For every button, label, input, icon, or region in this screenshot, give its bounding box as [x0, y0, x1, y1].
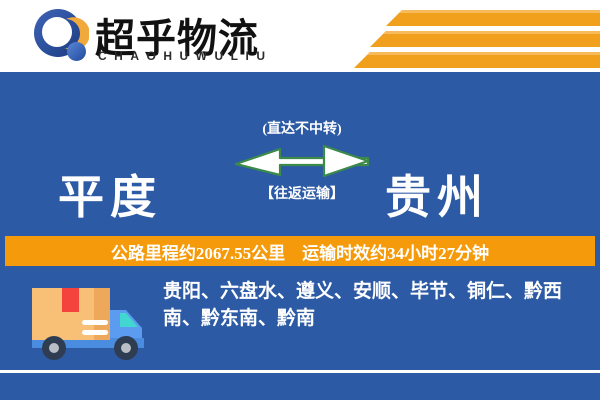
route-note-bottom: 【往返运输】	[232, 183, 372, 203]
banner-footer	[0, 373, 600, 400]
circle-swoosh-logo-icon	[33, 8, 89, 64]
route-middle-block: (直达不中转) 【往返运输】	[232, 118, 372, 203]
route-note-top: (直达不中转)	[232, 118, 372, 138]
banner-header: 超乎物流 CHAOHUWULIU	[0, 0, 600, 72]
orange-speed-stripes-icon	[310, 0, 600, 72]
brand-name-en: CHAOHUWULIU	[98, 49, 273, 63]
route-band: 平度 (直达不中转) 【往返运输】 贵州	[0, 72, 600, 232]
logistics-route-banner: 超乎物流 CHAOHUWULIU 平度 (直达不中转) 【往返	[0, 0, 600, 400]
delivery-truck-icon	[22, 280, 150, 364]
distance-duration-text: 公路里程约2067.55公里 运输时效约34小时27分钟	[111, 239, 489, 264]
coverage-cities-zone: 贵阳、六盘水、遵义、安顺、毕节、铜仁、黔西南、黔东南、黔南	[0, 272, 600, 370]
distance-duration-bar: 公路里程约2067.55公里 运输时效约34小时27分钟	[5, 236, 595, 266]
origin-city: 平度	[58, 161, 162, 227]
bidirectional-arrow-icon	[232, 141, 372, 181]
destination-city: 贵州	[385, 161, 489, 227]
coverage-cities-text: 贵阳、六盘水、遵义、安顺、毕节、铜仁、黔西南、黔东南、黔南	[163, 278, 581, 332]
